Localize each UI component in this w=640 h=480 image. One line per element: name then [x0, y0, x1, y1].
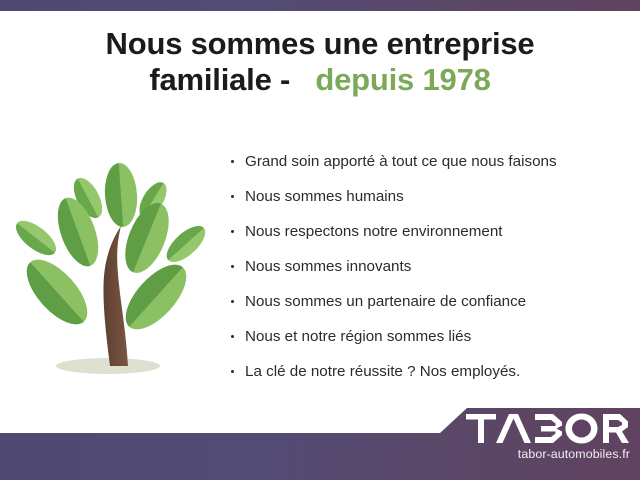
list-item-label: La clé de notre réussite ? Nos employés.: [245, 363, 520, 380]
footer-band: tabor-automobiles.fr: [0, 404, 640, 480]
page-title-accent: depuis 1978: [315, 62, 490, 97]
list-item-label: Nous sommes un partenaire de confiance: [245, 293, 526, 310]
list-item: Nous sommes innovants: [228, 255, 628, 290]
tree-illustration: [8, 150, 213, 385]
list-item-label: Nous sommes humains: [245, 188, 404, 205]
page-title: Nous sommes une entreprise familiale - d…: [0, 26, 640, 98]
list-item-label: Grand soin apporté à tout ce que nous fa…: [245, 153, 557, 170]
tree-shadow: [56, 358, 160, 374]
tabor-wordmark: [465, 412, 630, 445]
list-item: La clé de notre réussite ? Nos employés.: [228, 360, 628, 395]
brand-logo[interactable]: tabor-automobiles.fr: [450, 412, 630, 461]
page-title-line-1: Nous sommes une entreprise: [0, 26, 640, 62]
list-item: Nous et notre région sommes liés: [228, 325, 628, 360]
benefits-list: Grand soin apporté à tout ce que nous fa…: [228, 150, 628, 395]
slide-canvas: Nous sommes une entreprise familiale - d…: [0, 0, 640, 480]
list-item-label: Nous respectons notre environnement: [245, 223, 503, 240]
list-item-label: Nous sommes innovants: [245, 258, 411, 275]
top-accent-bar: [0, 0, 640, 11]
page-title-line-2-black: familiale -: [149, 62, 290, 97]
title-spacer: [290, 62, 315, 97]
brand-url[interactable]: tabor-automobiles.fr: [450, 447, 630, 461]
tree-trunk: [103, 226, 128, 366]
list-item: Grand soin apporté à tout ce que nous fa…: [228, 150, 628, 185]
list-item-label: Nous et notre région sommes liés: [245, 328, 471, 345]
list-item: Nous respectons notre environnement: [228, 220, 628, 255]
list-item: Nous sommes un partenaire de confiance: [228, 290, 628, 325]
list-item: Nous sommes humains: [228, 185, 628, 220]
page-title-line-2: familiale - depuis 1978: [0, 62, 640, 98]
